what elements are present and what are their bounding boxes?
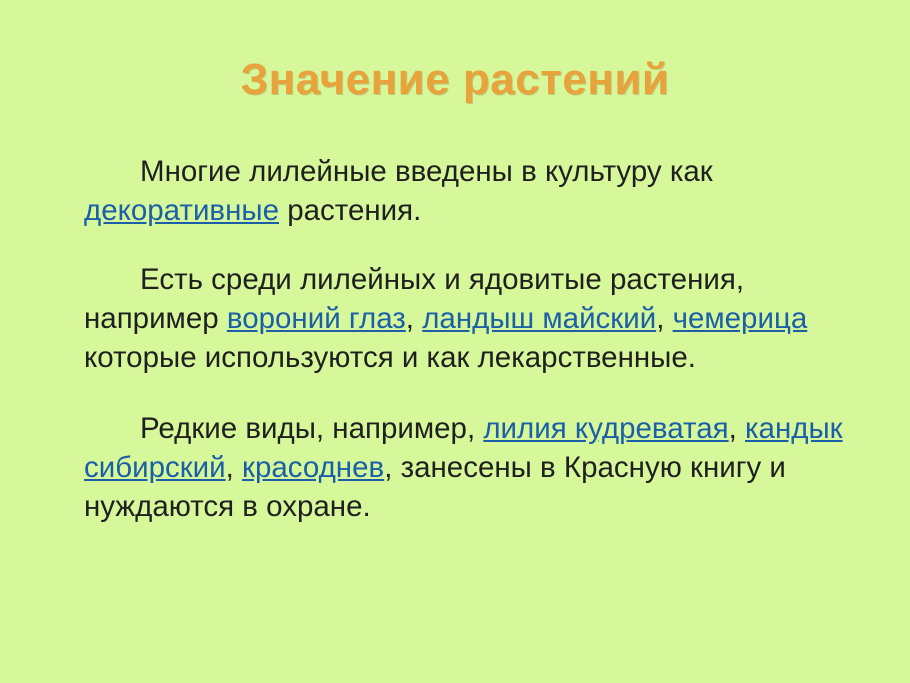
link-2-4[interactable]: ландыш майский [422, 302, 656, 335]
text-run-2-3: , [406, 302, 422, 335]
link-3-2[interactable]: лилия кудреватая [483, 412, 728, 445]
text-run-2-7: которые используются и как лекарственные… [84, 341, 696, 374]
text-run-3-3: , [729, 412, 745, 445]
paragraph-2: Есть среди лилейных и ядовитые растения,… [84, 260, 874, 377]
page-title: Значение растений [0, 55, 910, 105]
slide-body: Многие лилейные введены в культуру как д… [84, 152, 874, 526]
paragraph-1: Многие лилейные введены в культуру как д… [84, 152, 874, 230]
link-1-2[interactable]: декоративные [84, 194, 279, 227]
paragraph-3: Редкие виды, например, лилия кудреватая,… [84, 409, 874, 526]
text-run-1-3: растения. [279, 194, 421, 227]
link-3-6[interactable]: красоднев [242, 451, 384, 484]
text-run-3-1: Редкие виды, например, [140, 412, 483, 445]
text-run-1-1: Многие лилейные введены в культуру как [140, 155, 713, 188]
text-run-3-5: , [226, 451, 242, 484]
text-run-2-5: , [656, 302, 672, 335]
link-2-2[interactable]: вороний глаз [227, 302, 406, 335]
link-2-6[interactable]: чемерица [673, 302, 808, 335]
slide: Значение растений Многие лилейные введен… [0, 0, 910, 683]
